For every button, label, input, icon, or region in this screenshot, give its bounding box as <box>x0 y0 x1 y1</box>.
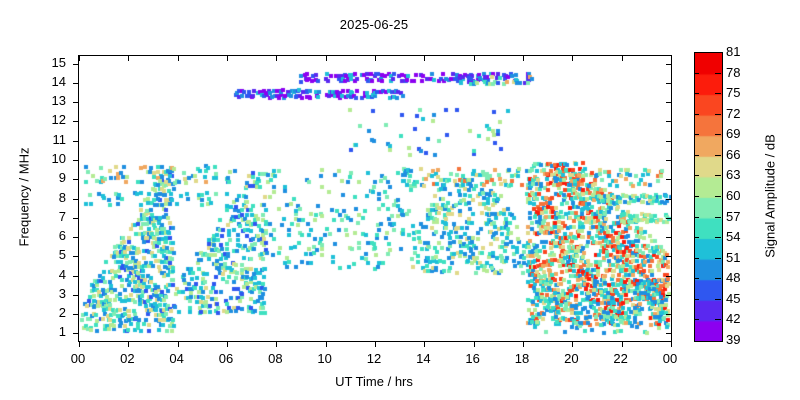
y-axis-tick-right <box>666 64 671 65</box>
y-axis-tick-label: 3 <box>26 287 66 300</box>
colorbar-tick-label: 78 <box>726 66 756 79</box>
y-axis-tick-label: 8 <box>26 191 66 204</box>
y-axis-tick <box>73 314 79 315</box>
colorbar-tick-label: 72 <box>726 107 756 120</box>
x-axis-tick-top <box>474 56 475 61</box>
colorbar-tick-left <box>694 73 699 74</box>
x-axis-tick-top <box>671 56 672 61</box>
x-axis-tick <box>276 341 277 347</box>
y-axis-tick <box>73 256 79 257</box>
scatter-data-canvas <box>79 56 671 341</box>
colorbar-tick <box>715 278 721 279</box>
x-axis-tick-top <box>128 56 129 61</box>
y-axis-tick-right <box>666 314 671 315</box>
x-axis-tick <box>424 341 425 347</box>
x-axis-title: UT Time / hrs <box>78 374 670 389</box>
y-axis-tick-label: 4 <box>26 268 66 281</box>
y-axis-tick-right <box>666 199 671 200</box>
colorbar-tick-label: 66 <box>726 148 756 161</box>
ionogram-figure: 2025-06-25 Frequency / MHz UT Time / hrs… <box>0 0 800 400</box>
y-axis-tick <box>73 276 79 277</box>
y-axis-tick <box>73 83 79 84</box>
colorbar-tick-left <box>694 52 699 53</box>
colorbar-tick <box>715 73 721 74</box>
colorbar-tick <box>715 134 721 135</box>
x-axis-tick-label: 04 <box>157 352 197 365</box>
colorbar-tick <box>715 93 721 94</box>
x-axis-tick-label: 08 <box>255 352 295 365</box>
x-axis-tick-label: 18 <box>502 352 542 365</box>
x-axis-tick-label: 20 <box>551 352 591 365</box>
y-axis-tick-label: 5 <box>26 248 66 261</box>
colorbar-tick-left <box>694 278 699 279</box>
y-axis-tick-label: 14 <box>26 75 66 88</box>
colorbar-tick-left <box>694 155 699 156</box>
x-axis-tick <box>523 341 524 347</box>
x-axis-tick <box>326 341 327 347</box>
colorbar-tick <box>715 299 721 300</box>
y-axis-tick <box>73 333 79 334</box>
x-axis-tick <box>128 341 129 347</box>
y-axis-tick <box>73 179 79 180</box>
y-axis-tick-right <box>666 102 671 103</box>
x-axis-tick-top <box>178 56 179 61</box>
colorbar-tick-left <box>694 93 699 94</box>
y-axis-tick <box>73 160 79 161</box>
x-axis-tick-top <box>622 56 623 61</box>
y-axis-tick-label: 13 <box>26 94 66 107</box>
colorbar-tick <box>715 196 721 197</box>
y-axis-tick-label: 1 <box>26 325 66 338</box>
y-axis-tick-right <box>666 83 671 84</box>
x-axis-tick <box>622 341 623 347</box>
y-axis-tick-right <box>666 276 671 277</box>
y-axis-tick-label: 15 <box>26 56 66 69</box>
colorbar-tick-left <box>694 258 699 259</box>
colorbar-tick-label: 81 <box>726 45 756 58</box>
x-axis-tick <box>572 341 573 347</box>
y-axis-tick-right <box>666 141 671 142</box>
x-axis-tick-label: 02 <box>107 352 147 365</box>
colorbar-tick-left <box>694 319 699 320</box>
y-axis-tick-right <box>666 179 671 180</box>
colorbar-tick-label: 69 <box>726 127 756 140</box>
colorbar-tick-label: 63 <box>726 168 756 181</box>
x-axis-tick-top <box>523 56 524 61</box>
colorbar-tick-label: 42 <box>726 312 756 325</box>
colorbar-tick <box>715 319 721 320</box>
x-axis-tick <box>79 341 80 347</box>
y-axis-tick-label: 12 <box>26 113 66 126</box>
colorbar-tick-label: 75 <box>726 86 756 99</box>
y-axis-tick-label: 11 <box>26 133 66 146</box>
x-axis-tick-label: 00 <box>58 352 98 365</box>
y-axis-tick <box>73 102 79 103</box>
colorbar-tick <box>715 155 721 156</box>
colorbar-tick-left <box>694 114 699 115</box>
y-axis-tick-label: 9 <box>26 171 66 184</box>
colorbar-tick-left <box>694 299 699 300</box>
x-axis-tick-label: 00 <box>650 352 690 365</box>
y-axis-tick-right <box>666 121 671 122</box>
x-axis-tick-top <box>572 56 573 61</box>
colorbar-tick-left <box>694 237 699 238</box>
y-axis-tick-right <box>666 218 671 219</box>
colorbar-tick-label: 45 <box>726 292 756 305</box>
plot-area <box>78 55 672 342</box>
y-axis-tick-right <box>666 237 671 238</box>
y-axis-tick <box>73 237 79 238</box>
y-axis-tick <box>73 64 79 65</box>
x-axis-tick-label: 10 <box>305 352 345 365</box>
x-axis-tick-label: 12 <box>354 352 394 365</box>
colorbar-tick <box>715 237 721 238</box>
colorbar-tick-left <box>694 196 699 197</box>
y-axis-tick-label: 2 <box>26 306 66 319</box>
y-axis-tick <box>73 121 79 122</box>
x-axis-tick-top <box>79 56 80 61</box>
y-axis-tick-right <box>666 295 671 296</box>
x-axis-tick <box>178 341 179 347</box>
y-axis-tick-right <box>666 160 671 161</box>
colorbar-tick-left <box>694 175 699 176</box>
colorbar-tick-label: 60 <box>726 189 756 202</box>
y-axis-tick <box>73 295 79 296</box>
y-axis-tick-label: 7 <box>26 210 66 223</box>
colorbar-tick <box>715 52 721 53</box>
x-axis-tick-top <box>375 56 376 61</box>
colorbar-tick-label: 48 <box>726 271 756 284</box>
page-title: 2025-06-25 <box>0 17 748 32</box>
y-axis-tick <box>73 141 79 142</box>
x-axis-tick <box>474 341 475 347</box>
colorbar-tick <box>715 217 721 218</box>
colorbar-tick-left <box>694 217 699 218</box>
y-axis-tick-label: 6 <box>26 229 66 242</box>
y-axis-tick-right <box>666 333 671 334</box>
x-axis-tick-top <box>424 56 425 61</box>
colorbar: 394245485154576063666972757881 <box>694 52 721 340</box>
colorbar-tick-label: 51 <box>726 251 756 264</box>
x-axis-tick-label: 16 <box>453 352 493 365</box>
y-axis-tick-label: 10 <box>26 152 66 165</box>
y-axis-tick <box>73 199 79 200</box>
x-axis-tick <box>375 341 376 347</box>
colorbar-tick-label: 39 <box>726 333 756 346</box>
x-axis-tick <box>671 341 672 347</box>
y-axis-tick-right <box>666 256 671 257</box>
colorbar-tick-left <box>694 134 699 135</box>
colorbar-title: Signal Amplitude / dB <box>763 134 778 258</box>
x-axis-tick-label: 06 <box>206 352 246 365</box>
colorbar-tick-label: 57 <box>726 210 756 223</box>
colorbar-tick <box>715 175 721 176</box>
x-axis-tick-top <box>227 56 228 61</box>
colorbar-tick-label: 54 <box>726 230 756 243</box>
colorbar-tick <box>715 258 721 259</box>
x-axis-tick-top <box>276 56 277 61</box>
x-axis-tick-top <box>326 56 327 61</box>
x-axis-tick-label: 22 <box>601 352 641 365</box>
x-axis-tick <box>227 341 228 347</box>
y-axis-tick <box>73 218 79 219</box>
x-axis-tick-label: 14 <box>403 352 443 365</box>
colorbar-tick <box>715 114 721 115</box>
